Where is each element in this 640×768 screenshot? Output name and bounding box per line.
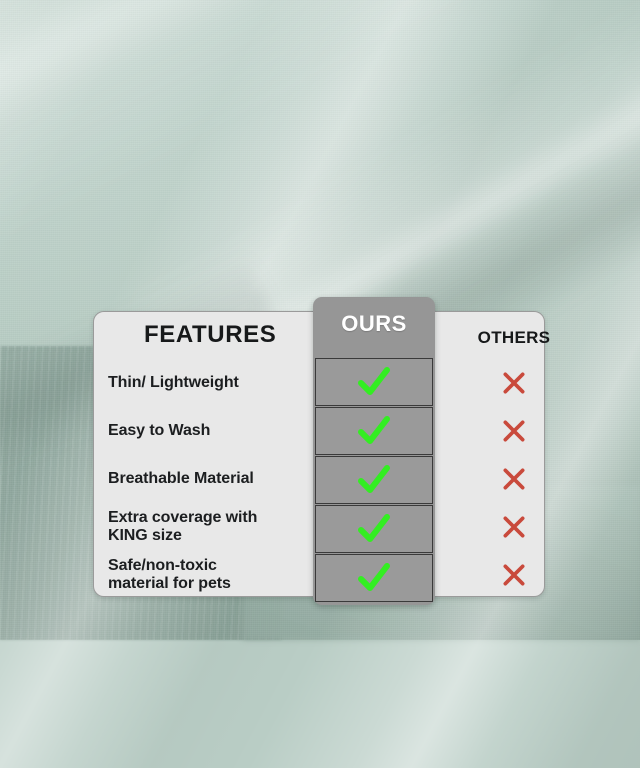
- cross-icon: [501, 562, 527, 588]
- feature-label: Breathable Material: [108, 470, 254, 488]
- table-row: Thin/ Lightweight: [94, 359, 319, 407]
- others-column-title: OTHERS: [454, 328, 574, 348]
- feature-label: Extra coverage withKING size: [108, 509, 257, 545]
- feature-label-column: Thin/ Lightweight Easy to Wash Breathabl…: [94, 359, 319, 599]
- cross-icon: [501, 466, 527, 492]
- ours-column-title: OURS: [313, 311, 435, 337]
- feature-label: Thin/ Lightweight: [108, 374, 239, 392]
- ours-cell: [315, 456, 433, 504]
- checkmark-icon: [357, 563, 391, 593]
- others-cell: [454, 551, 574, 599]
- checkmark-icon: [357, 465, 391, 495]
- ours-cell: [315, 358, 433, 406]
- feature-label: Safe/non-toxicmaterial for pets: [108, 557, 231, 593]
- others-cell: [454, 455, 574, 503]
- cross-icon: [501, 370, 527, 396]
- others-cell: [454, 407, 574, 455]
- ours-cell: [315, 554, 433, 602]
- ours-cell: [315, 505, 433, 553]
- checkmark-icon: [357, 514, 391, 544]
- others-cell: [454, 503, 574, 551]
- table-row: Breathable Material: [94, 455, 319, 503]
- ours-column: OURS: [313, 297, 435, 605]
- others-value-column: [454, 359, 574, 599]
- ours-value-column: [313, 358, 435, 603]
- others-cell: [454, 359, 574, 407]
- table-row: Easy to Wash: [94, 407, 319, 455]
- feature-label: Easy to Wash: [108, 422, 210, 440]
- features-column-title: FEATURES: [144, 321, 276, 349]
- ours-cell: [315, 407, 433, 455]
- cross-icon: [501, 418, 527, 444]
- table-row: Extra coverage withKING size: [94, 503, 319, 551]
- checkmark-icon: [357, 416, 391, 446]
- cross-icon: [501, 514, 527, 540]
- table-row: Safe/non-toxicmaterial for pets: [94, 551, 319, 599]
- checkmark-icon: [357, 367, 391, 397]
